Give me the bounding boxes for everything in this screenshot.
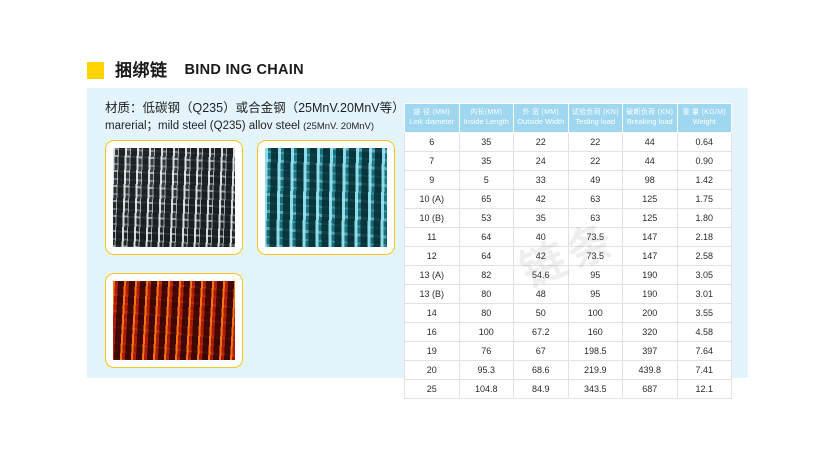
table-cell: 1.80 xyxy=(677,208,732,227)
table-cell: 200 xyxy=(623,303,678,322)
chain-photo-cyan-image xyxy=(265,148,387,247)
yellow-square-icon xyxy=(87,62,104,79)
table-cell: 22 xyxy=(514,132,569,151)
table-cell: 35 xyxy=(459,132,514,151)
table-cell: 40 xyxy=(514,227,569,246)
table-cell: 198.5 xyxy=(568,341,623,360)
table-cell: 14 xyxy=(405,303,460,322)
table-cell: 147 xyxy=(623,227,678,246)
table-cell: 64 xyxy=(459,246,514,265)
column-header-breaking-load: 破断负荷 (KN) Breaking load xyxy=(623,104,678,133)
table-cell: 54.6 xyxy=(514,265,569,284)
table-cell: 7.64 xyxy=(677,341,732,360)
page-title-en: BIND ING CHAIN xyxy=(185,63,304,78)
chain-photo-silver xyxy=(105,140,243,255)
table-cell: 7.41 xyxy=(677,360,732,379)
table-cell: 22 xyxy=(568,132,623,151)
table-row: 10 (A)6542631251.75 xyxy=(405,189,732,208)
table-cell: 687 xyxy=(623,379,678,398)
page-title-cn: 捆绑链 xyxy=(115,62,168,79)
material-text-en: marerial；mild steel (Q235) allov steel (… xyxy=(105,118,425,135)
column-header-inside-length-cn: 内长(MM) xyxy=(461,108,513,117)
chain-photo-cyan xyxy=(257,140,395,255)
table-cell: 190 xyxy=(623,265,678,284)
column-header-testing-load: 试验负荷 (KN) Tesling load xyxy=(568,104,623,133)
table-cell: 4.58 xyxy=(677,322,732,341)
table-cell: 100 xyxy=(459,322,514,341)
table-cell: 6 xyxy=(405,132,460,151)
table-row: 7352422440.90 xyxy=(405,151,732,170)
table-cell: 44 xyxy=(623,151,678,170)
chain-photo-red xyxy=(105,273,243,368)
table-cell: 3.55 xyxy=(677,303,732,322)
table-cell: 10 (A) xyxy=(405,189,460,208)
table-cell: 125 xyxy=(623,208,678,227)
table-cell: 80 xyxy=(459,303,514,322)
table-row: 12644273.51472.58 xyxy=(405,246,732,265)
table-cell: 1.75 xyxy=(677,189,732,208)
table-cell: 35 xyxy=(514,208,569,227)
table-cell: 24 xyxy=(514,151,569,170)
table-row: 953349981.42 xyxy=(405,170,732,189)
table-cell: 67 xyxy=(514,341,569,360)
table-cell: 63 xyxy=(568,189,623,208)
table-cell: 1.42 xyxy=(677,170,732,189)
column-header-outside-width-en: Outside Width xyxy=(515,117,567,127)
table-cell: 67.2 xyxy=(514,322,569,341)
table-row: 1610067.21603204.58 xyxy=(405,322,732,341)
table-cell: 320 xyxy=(623,322,678,341)
material-text-en-main: marerial；mild steel (Q235) allov steel xyxy=(105,120,303,132)
table-cell: 2.18 xyxy=(677,227,732,246)
table-row: 10 (B)5335631251.80 xyxy=(405,208,732,227)
table-cell: 0.90 xyxy=(677,151,732,170)
table-cell: 82 xyxy=(459,265,514,284)
spec-table-header-row: 链 径 (MM) Link diameter 内长(MM) Inside Len… xyxy=(405,104,732,133)
table-cell: 84.9 xyxy=(514,379,569,398)
table-cell: 80 xyxy=(459,284,514,303)
table-cell: 439.8 xyxy=(623,360,678,379)
table-cell: 50 xyxy=(514,303,569,322)
table-cell: 3.01 xyxy=(677,284,732,303)
table-cell: 64 xyxy=(459,227,514,246)
table-row: 11644073.51472.18 xyxy=(405,227,732,246)
table-cell: 9 xyxy=(405,170,460,189)
table-cell: 48 xyxy=(514,284,569,303)
content-panel: 材质：低碳钢（Q235）或合金钢（25MnV.20MnV等） marerial；… xyxy=(87,88,748,378)
column-header-testing-load-cn: 试验负荷 (KN) xyxy=(570,108,622,117)
table-cell: 190 xyxy=(623,284,678,303)
table-row: 6352222440.64 xyxy=(405,132,732,151)
table-cell: 10 (B) xyxy=(405,208,460,227)
table-cell: 219.9 xyxy=(568,360,623,379)
column-header-weight-cn: 重 量 (KG/M) xyxy=(679,108,731,117)
table-cell: 95.3 xyxy=(459,360,514,379)
table-cell: 68.6 xyxy=(514,360,569,379)
table-cell: 42 xyxy=(514,189,569,208)
table-row: 13 (B)8048951903.01 xyxy=(405,284,732,303)
column-header-weight: 重 量 (KG/M) Weight xyxy=(677,104,732,133)
column-header-testing-load-en: Tesling load xyxy=(570,117,622,127)
spec-table-head: 链 径 (MM) Link diameter 内长(MM) Inside Len… xyxy=(405,104,732,133)
chain-photo-red-image xyxy=(113,281,235,360)
column-header-outside-width-cn: 外 宽 (MM) xyxy=(515,108,567,117)
table-cell: 0.64 xyxy=(677,132,732,151)
table-cell: 13 (A) xyxy=(405,265,460,284)
table-row: 2095.368.6219.9439.87.41 xyxy=(405,360,732,379)
table-cell: 95 xyxy=(568,265,623,284)
table-cell: 95 xyxy=(568,284,623,303)
table-cell: 20 xyxy=(405,360,460,379)
table-cell: 22 xyxy=(568,151,623,170)
table-cell: 19 xyxy=(405,341,460,360)
spec-table-container: 链条 链 径 (MM) Link diameter 内长(MM) Inside … xyxy=(404,103,732,399)
table-cell: 3.05 xyxy=(677,265,732,284)
table-row: 13 (A)8254.6951903.05 xyxy=(405,265,732,284)
table-cell: 63 xyxy=(568,208,623,227)
table-cell: 7 xyxy=(405,151,460,170)
column-header-link-diameter: 链 径 (MM) Link diameter xyxy=(405,104,460,133)
table-cell: 35 xyxy=(459,151,514,170)
column-header-inside-length: 内长(MM) Inside Length xyxy=(459,104,514,133)
table-cell: 13 (B) xyxy=(405,284,460,303)
page-title: 捆绑链 BIND ING CHAIN xyxy=(87,58,304,82)
table-row: 25104.884.9343.568712.1 xyxy=(405,379,732,398)
material-description: 材质：低碳钢（Q235）或合金钢（25MnV.20MnV等） marerial；… xyxy=(105,99,425,136)
chain-photo-silver-image xyxy=(113,148,235,247)
column-header-link-diameter-en: Link diameter xyxy=(406,117,458,127)
column-header-weight-en: Weight xyxy=(679,117,731,127)
table-cell: 11 xyxy=(405,227,460,246)
table-cell: 397 xyxy=(623,341,678,360)
table-cell: 5 xyxy=(459,170,514,189)
table-cell: 100 xyxy=(568,303,623,322)
table-cell: 73.5 xyxy=(568,227,623,246)
table-cell: 104.8 xyxy=(459,379,514,398)
table-cell: 65 xyxy=(459,189,514,208)
table-cell: 2.58 xyxy=(677,246,732,265)
material-text-en-grade: (25MnV. 20MnV) xyxy=(303,121,374,132)
table-cell: 343.5 xyxy=(568,379,623,398)
material-text-cn: 材质：低碳钢（Q235）或合金钢（25MnV.20MnV等） xyxy=(105,99,425,118)
table-cell: 33 xyxy=(514,170,569,189)
column-header-inside-length-en: Inside Length xyxy=(461,117,513,127)
spec-table: 链 径 (MM) Link diameter 内长(MM) Inside Len… xyxy=(404,103,732,399)
table-cell: 49 xyxy=(568,170,623,189)
table-cell: 73.5 xyxy=(568,246,623,265)
table-cell: 42 xyxy=(514,246,569,265)
table-cell: 12.1 xyxy=(677,379,732,398)
table-cell: 125 xyxy=(623,189,678,208)
column-header-link-diameter-cn: 链 径 (MM) xyxy=(406,108,458,117)
column-header-breaking-load-cn: 破断负荷 (KN) xyxy=(624,108,676,117)
spec-table-body: 6352222440.647352422440.90953349981.4210… xyxy=(405,132,732,398)
column-header-breaking-load-en: Breaking load xyxy=(624,117,676,127)
table-cell: 25 xyxy=(405,379,460,398)
table-cell: 44 xyxy=(623,132,678,151)
table-cell: 12 xyxy=(405,246,460,265)
table-cell: 98 xyxy=(623,170,678,189)
table-cell: 160 xyxy=(568,322,623,341)
table-row: 197667198.53977.64 xyxy=(405,341,732,360)
table-cell: 16 xyxy=(405,322,460,341)
table-row: 1480501002003.55 xyxy=(405,303,732,322)
table-cell: 53 xyxy=(459,208,514,227)
table-cell: 147 xyxy=(623,246,678,265)
column-header-outside-width: 外 宽 (MM) Outside Width xyxy=(514,104,569,133)
table-cell: 76 xyxy=(459,341,514,360)
